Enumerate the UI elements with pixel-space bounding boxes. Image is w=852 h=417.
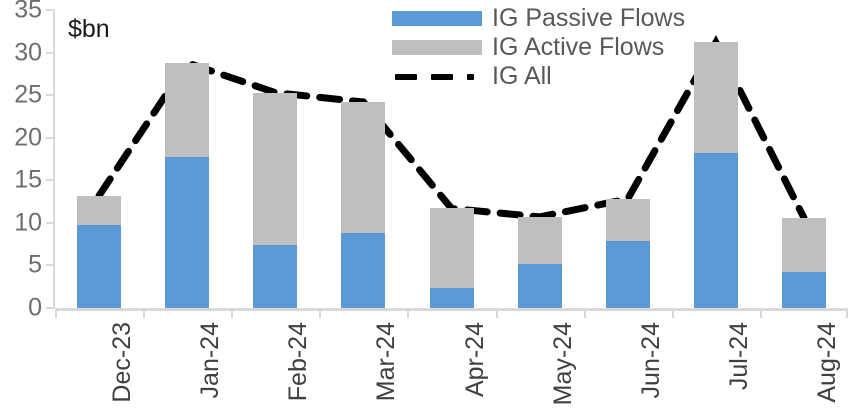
legend-dashed-line-icon xyxy=(392,69,482,84)
bar-segment-active[interactable] xyxy=(518,217,562,264)
x-axis-tick-mark xyxy=(846,311,848,318)
bar-group[interactable] xyxy=(606,199,650,308)
chart-canvas: 05101520253035 $bn IG Passive Flows IG A… xyxy=(0,0,852,417)
legend-item-ig-all[interactable]: IG All xyxy=(392,62,692,91)
x-axis-tick-label: Jun-24 xyxy=(639,322,664,398)
bar-segment-active[interactable] xyxy=(165,63,209,158)
legend-label-active: IG Active Flows xyxy=(492,35,664,60)
x-axis-line xyxy=(55,308,848,311)
bar-segment-active[interactable] xyxy=(341,102,385,233)
x-axis-tick-label: Jul-24 xyxy=(727,322,752,390)
y-axis-tick-mark xyxy=(46,179,54,181)
y-axis-tick-mark xyxy=(46,264,54,266)
bar-segment-passive[interactable] xyxy=(165,157,209,308)
x-axis-tick-mark xyxy=(55,311,57,318)
x-axis-tick-mark xyxy=(143,311,145,318)
bar-segment-passive[interactable] xyxy=(341,233,385,308)
bar-group[interactable] xyxy=(694,42,738,308)
bar-segment-passive[interactable] xyxy=(253,245,297,308)
bar-segment-passive[interactable] xyxy=(782,272,826,308)
y-axis-tick-label: 0 xyxy=(28,296,42,321)
y-axis-tick-label: 15 xyxy=(14,168,42,193)
x-axis-tick-label: Apr-24 xyxy=(463,322,488,397)
legend-swatch-icon-active xyxy=(392,40,482,55)
bar-segment-active[interactable] xyxy=(782,218,826,272)
legend-label-ig-all: IG All xyxy=(492,64,552,89)
legend-item-ig-active-flows[interactable]: IG Active Flows xyxy=(392,33,692,62)
x-axis-tick-label: Aug-24 xyxy=(815,322,840,403)
bar-group[interactable] xyxy=(430,208,474,308)
x-axis-tick-label: Mar-24 xyxy=(374,322,399,401)
bar-group[interactable] xyxy=(341,102,385,308)
bar-group[interactable] xyxy=(165,63,209,308)
bar-segment-active[interactable] xyxy=(77,196,121,225)
y-axis-tick-mark xyxy=(46,307,54,309)
y-axis-tick-mark xyxy=(46,52,54,54)
chart-legend: IG Passive Flows IG Active Flows IG All xyxy=(392,4,692,91)
bar-group[interactable] xyxy=(253,93,297,308)
bar-group[interactable] xyxy=(518,217,562,308)
bar-segment-passive[interactable] xyxy=(694,153,738,308)
bar-group[interactable] xyxy=(782,218,826,308)
x-axis-tick-mark xyxy=(231,311,233,318)
y-axis-tick-label: 30 xyxy=(14,40,42,65)
x-axis-tick-mark xyxy=(496,311,498,318)
x-axis-tick-label: Jan-24 xyxy=(198,322,223,398)
bar-segment-active[interactable] xyxy=(694,42,738,153)
bar-segment-passive[interactable] xyxy=(430,288,474,308)
y-axis-tick-mark xyxy=(46,9,54,11)
bar-segment-active[interactable] xyxy=(430,208,474,288)
bar-segment-passive[interactable] xyxy=(606,241,650,308)
bar-segment-passive[interactable] xyxy=(77,225,121,308)
x-axis-tick-mark xyxy=(584,311,586,318)
legend-label-passive: IG Passive Flows xyxy=(492,6,685,31)
y-axis-tick-mark xyxy=(46,137,54,139)
bar-segment-active[interactable] xyxy=(606,199,650,241)
bar-segment-passive[interactable] xyxy=(518,264,562,308)
x-axis-tick-label: Feb-24 xyxy=(286,322,311,401)
y-axis-tick-label: 25 xyxy=(14,83,42,108)
legend-swatch-icon-passive xyxy=(392,11,482,26)
x-axis-tick-label: Dec-23 xyxy=(110,322,135,403)
legend-item-ig-passive-flows[interactable]: IG Passive Flows xyxy=(392,4,692,33)
bar-segment-active[interactable] xyxy=(253,93,297,245)
x-axis-tick-mark xyxy=(760,311,762,318)
x-axis-tick-label: May-24 xyxy=(551,322,576,405)
x-axis-tick-mark xyxy=(319,311,321,318)
x-axis-tick-mark xyxy=(672,311,674,318)
y-axis-tick-label: 5 xyxy=(28,253,42,278)
y-axis: 05101520253035 xyxy=(0,0,46,417)
y-axis-tick-mark xyxy=(46,94,54,96)
bar-group[interactable] xyxy=(77,196,121,308)
x-axis-tick-mark xyxy=(407,311,409,318)
y-axis-tick-label: 35 xyxy=(14,0,42,23)
y-axis-tick-mark xyxy=(46,222,54,224)
y-axis-tick-label: 20 xyxy=(14,125,42,150)
y-axis-tick-label: 10 xyxy=(14,210,42,235)
